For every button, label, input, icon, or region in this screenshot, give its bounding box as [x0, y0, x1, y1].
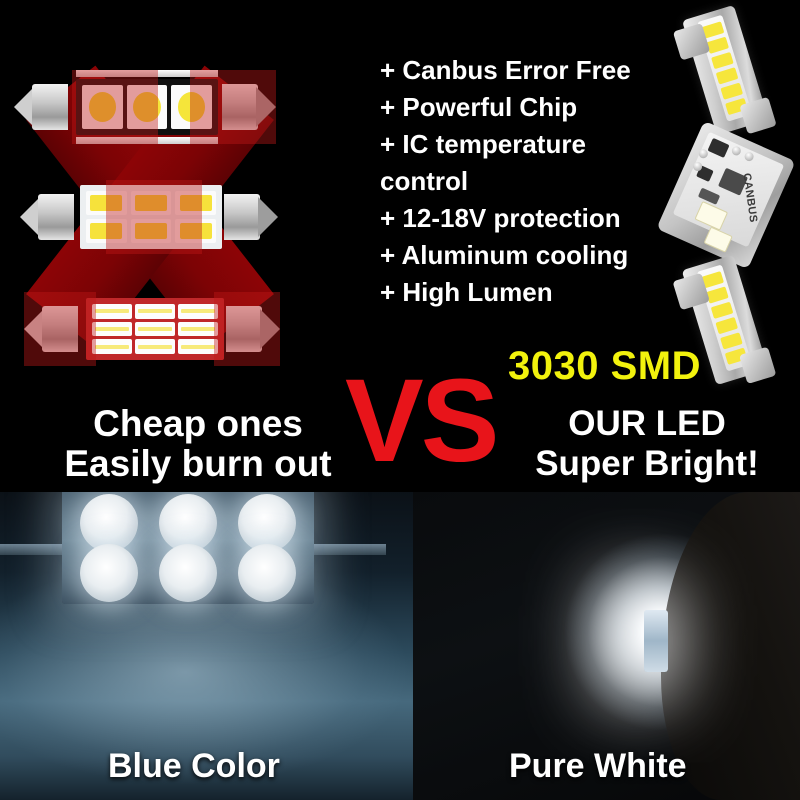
bulb-cap-left [24, 306, 78, 352]
smd-chip [175, 219, 216, 243]
smd-chip [92, 339, 132, 354]
smd-chip [135, 339, 175, 354]
cheap-bulb-3smd [14, 70, 276, 144]
bulb-cap-right [222, 84, 276, 130]
lit-cheap-bulb [62, 492, 314, 604]
pure-white-caption: Pure White [509, 747, 687, 786]
smd-type-label: 3030 SMD [508, 344, 701, 389]
bulb-cap-left [20, 194, 74, 240]
smd-chip [178, 304, 218, 319]
bulb-pcb [80, 185, 222, 249]
cheap-bulb-6smd [20, 180, 278, 254]
lit-our-bulb [644, 610, 668, 672]
product-comparison-image: CANBUS + Canbus Error Free + Powerful Ch… [0, 0, 800, 800]
smd-chip [92, 322, 132, 337]
bulb-pcb [86, 298, 224, 360]
smd-chip [175, 191, 216, 215]
blue-color-photo: Blue Color [0, 492, 413, 800]
smd-chip [131, 191, 172, 215]
smd-chip [135, 304, 175, 319]
smd-chip [131, 219, 172, 243]
feature-item: + Powerful Chip [380, 89, 700, 126]
feature-list: + Canbus Error Free + Powerful Chip + IC… [380, 52, 700, 311]
bulb-cap-left [14, 84, 68, 130]
smd-chip [135, 322, 175, 337]
bottom-panel: Blue Color Pure White [0, 492, 800, 800]
cheap-side-heading: Cheap ones Easily burn out [28, 404, 368, 484]
smd-chip [82, 85, 123, 129]
cheap-heading-line2: Easily burn out [28, 444, 368, 484]
smd-chip [86, 191, 127, 215]
feature-item: + 12-18V protection [380, 200, 700, 237]
bulb-cap-right [224, 194, 278, 240]
bulb-pcb [76, 79, 218, 135]
bulb-shaft-right [312, 544, 386, 555]
feature-item: + Aluminum cooling [380, 237, 700, 274]
our-heading-line2: Super Bright! [502, 444, 792, 484]
our-side-heading: OUR LED Super Bright! [502, 404, 792, 484]
cheap-bulb-9smd [24, 292, 280, 366]
smd-chip [86, 219, 127, 243]
pure-white-photo: Pure White [413, 492, 800, 800]
smd-chip [171, 85, 212, 129]
bulb-cap-right [226, 306, 280, 352]
smd-chip [127, 85, 168, 129]
cheap-heading-line1: Cheap ones [28, 404, 368, 444]
smd-chip [178, 322, 218, 337]
smd-chip [178, 339, 218, 354]
blue-color-caption: Blue Color [108, 747, 280, 786]
feature-item: + IC temperature [380, 126, 700, 163]
feature-item: control [380, 163, 700, 200]
feature-item: + High Lumen [380, 274, 700, 311]
feature-item: + Canbus Error Free [380, 52, 700, 89]
smd-chip [92, 304, 132, 319]
our-heading-line1: OUR LED [502, 404, 792, 444]
bulb-shaft-left [0, 544, 66, 555]
top-panel: CANBUS + Canbus Error Free + Powerful Ch… [0, 0, 800, 492]
